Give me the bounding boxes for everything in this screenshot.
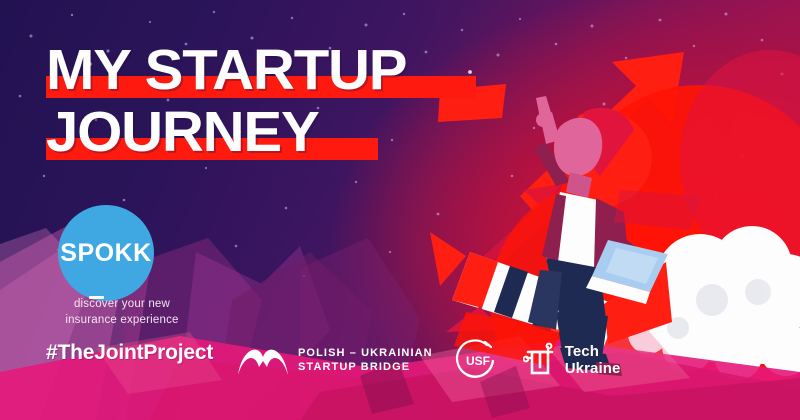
hashtag-label: #TheJointProject <box>46 341 213 365</box>
spokk-tagline-line-1: discover your new <box>42 296 202 312</box>
partner-pusb-line-1: POLISH – UKRAINIAN <box>298 346 433 360</box>
usf-wordmark: USF <box>466 354 490 368</box>
headline-line-1: MY STARTUP <box>46 40 399 102</box>
partner-logo-strip: POLISH – UKRAINIAN STARTUP BRIDGE USF <box>236 338 620 382</box>
headline-block: MY STARTUP JOURNEY <box>46 40 399 164</box>
partner-polish-ukrainian-startup-bridge: POLISH – UKRAINIAN STARTUP BRIDGE <box>236 341 433 379</box>
partner-tech-ukraine-line-2: Ukraine <box>565 360 621 377</box>
partner-tech-ukraine-text: Tech Ukraine <box>565 343 621 377</box>
partner-pusb-line-2: STARTUP BRIDGE <box>298 360 433 374</box>
headline-text-2: JOURNEY <box>46 102 406 162</box>
spokk-wordmark: SPOKK <box>60 239 151 268</box>
spokk-tagline: discover your new insurance experience <box>42 296 202 328</box>
spokk-tagline-line-2: insurance experience <box>42 312 202 328</box>
spokk-logo: SPOKK <box>58 205 154 301</box>
usf-ring-icon: USF <box>455 338 501 382</box>
partner-tech-ukraine: Tech Ukraine <box>523 341 621 379</box>
tech-ukraine-circuit-icon <box>523 341 557 379</box>
headline-text-1: MY STARTUP <box>46 40 406 100</box>
partner-pusb-text: POLISH – UKRAINIAN STARTUP BRIDGE <box>298 346 433 374</box>
promotional-banner: MY STARTUP JOURNEY SPOKK discover your n… <box>0 0 800 420</box>
partner-usf: USF <box>455 338 501 382</box>
headline-line-2: JOURNEY <box>46 102 399 164</box>
partner-tech-ukraine-line-1: Tech <box>565 343 621 360</box>
bridge-arch-icon <box>236 341 290 379</box>
